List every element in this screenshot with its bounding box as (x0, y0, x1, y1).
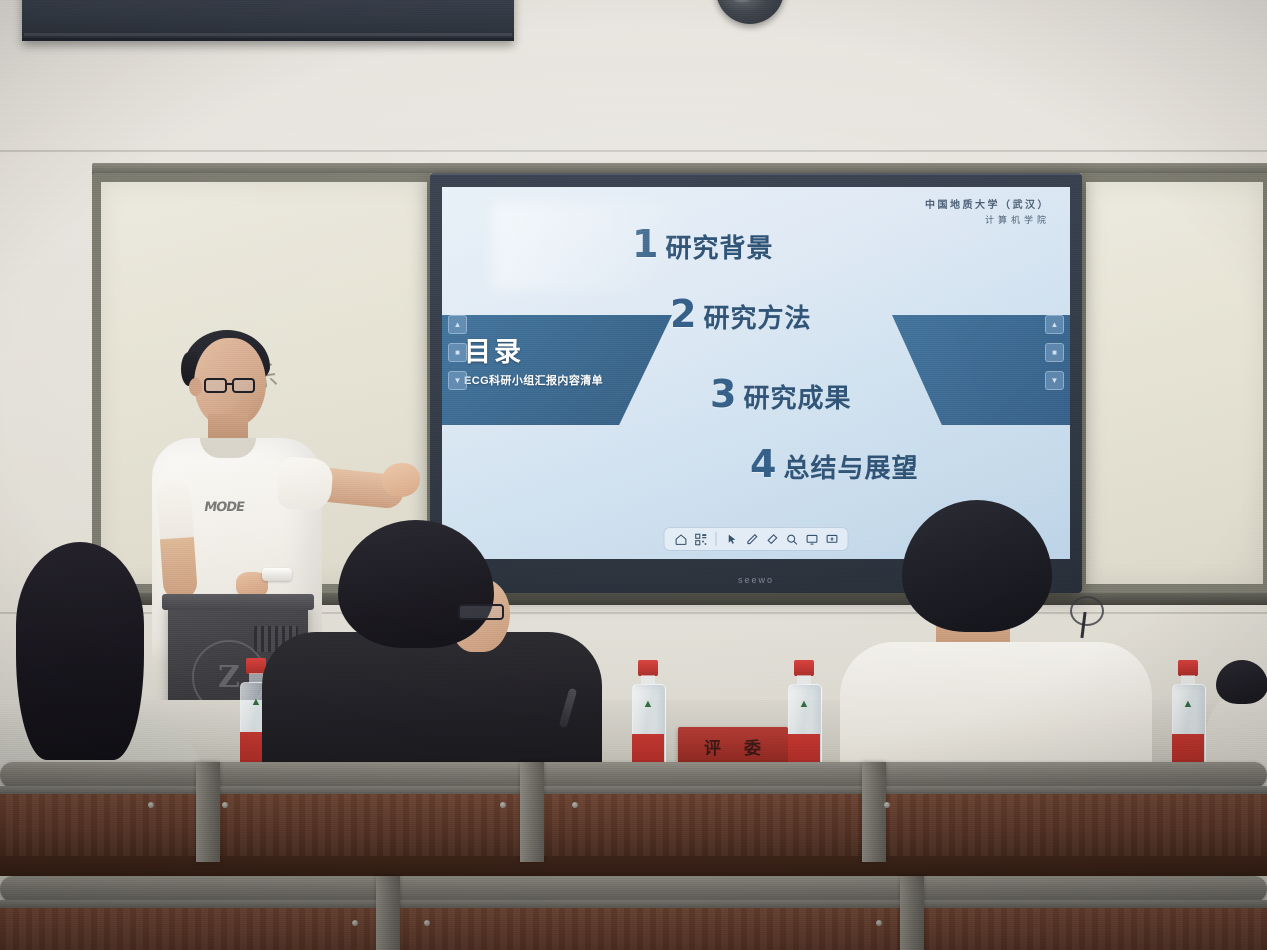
agenda-label-4: 总结与展望 (783, 448, 918, 485)
audience-left-woman (0, 542, 200, 778)
bench-lip (0, 900, 1267, 908)
side-key-up-right-icon[interactable]: ▲ (1045, 315, 1064, 334)
dome-lens (732, 0, 752, 2)
judges-name-plate: 评 委 (678, 727, 788, 765)
agenda-number-1: 1 (632, 225, 658, 263)
bench-rail (0, 876, 1267, 902)
audience-hair (16, 542, 144, 760)
bench-screw (222, 802, 228, 808)
agenda-item-2[interactable]: 2 研究方法 (670, 295, 811, 335)
bench-backrest-wood (0, 794, 1267, 856)
bottle-logo-icon: ▲ (250, 696, 262, 709)
agenda-label-3: 研究成果 (743, 378, 851, 415)
qrcode-icon[interactable] (692, 531, 710, 547)
glasses-lens-left (204, 378, 227, 393)
toolbar-separator (716, 532, 717, 546)
bottle-cap (794, 660, 814, 676)
side-key-menu-left-icon[interactable]: ■ (448, 343, 467, 362)
whiteboard-floating-toolbar[interactable] (664, 527, 849, 551)
audience-center-man (262, 520, 602, 780)
presenter-right-hand (382, 463, 420, 497)
agenda-number-3: 3 (710, 375, 736, 413)
bench-rail (0, 762, 1267, 788)
audience-hair (338, 520, 494, 648)
agenda-item-4[interactable]: 4 总结与展望 (750, 445, 918, 485)
toolbar-group-nav (669, 531, 713, 547)
bench-shelf (0, 856, 1267, 876)
bench-divider-post (520, 762, 544, 862)
bench-divider-post (900, 876, 924, 950)
glasses-lens-right (232, 378, 255, 393)
bench-screw (500, 802, 506, 808)
toc-heading-block: 目录 ECG科研小组汇报内容清单 (464, 330, 603, 388)
side-key-up-left-icon[interactable]: ▲ (448, 315, 467, 334)
panel-side-keys-right[interactable]: ▲ ■ ▼ (1045, 315, 1064, 390)
bench-screw (148, 802, 154, 808)
bench-row-second (0, 876, 1267, 950)
name-plate-char-2: 委 (744, 734, 762, 759)
bench-screw (352, 920, 358, 926)
toc-title: 目录 (464, 330, 603, 369)
agenda-number-2: 2 (670, 295, 696, 333)
side-key-down-left-icon[interactable]: ▼ (448, 371, 467, 390)
audience-hair (902, 500, 1052, 632)
bottle-logo-icon: ▲ (798, 698, 810, 711)
name-plate-char-1: 评 (704, 734, 722, 759)
audience-hair (1216, 660, 1267, 704)
agenda-label-2: 研究方法 (703, 298, 811, 335)
bench-screw (876, 920, 882, 926)
toc-subtitle: ECG科研小组汇报内容清单 (464, 372, 603, 388)
lecture-hall-photo: 乐 中国地质大学（武汉） 计算机学院 目录 ECG科研小组汇报内容清单 (0, 0, 1267, 950)
agenda-number-4: 4 (750, 445, 776, 483)
bench-lip (0, 786, 1267, 794)
bottle-logo-icon: ▲ (1182, 698, 1194, 711)
bench-backrest-wood (0, 908, 1267, 950)
bench-screw (884, 802, 890, 808)
bottle-cap (1178, 660, 1198, 676)
bench-screw (572, 802, 578, 808)
bench-row-front (0, 762, 1267, 872)
water-bottle[interactable]: ▲ (786, 660, 822, 768)
bezel-highlight (430, 173, 1082, 175)
ceiling-duct-panel (22, 0, 514, 41)
cursor-icon[interactable] (723, 531, 741, 547)
water-bottle[interactable]: ▲ (630, 660, 666, 768)
home-icon[interactable] (672, 531, 690, 547)
toolbar-group-tools (720, 531, 844, 547)
presenter-ear (189, 378, 202, 396)
agenda-label-1: 研究背景 (665, 228, 773, 265)
bench-divider-post (376, 876, 400, 950)
side-key-menu-right-icon[interactable]: ■ (1045, 343, 1064, 362)
glasses-icon (458, 604, 504, 620)
agenda-item-1[interactable]: 1 研究背景 (632, 225, 773, 265)
shirt-logo: MODE (203, 500, 268, 516)
audience-right-man (840, 500, 1152, 780)
water-bottle[interactable]: ▲ (1170, 660, 1206, 768)
bottle-cap (638, 660, 658, 676)
eraser-icon[interactable] (763, 531, 781, 547)
annotate-icon[interactable] (823, 531, 841, 547)
bench-screw (424, 920, 430, 926)
presenter-right-sleeve (276, 456, 333, 512)
side-key-down-right-icon[interactable]: ▼ (1045, 371, 1064, 390)
glasses-icon (204, 378, 256, 393)
panel-side-keys-left[interactable]: ▲ ■ ▼ (448, 315, 467, 390)
agenda-item-3[interactable]: 3 研究成果 (710, 375, 851, 415)
screen-icon[interactable] (803, 531, 821, 547)
search-icon[interactable] (783, 531, 801, 547)
bench-divider-post (862, 762, 886, 862)
bench-divider-post (196, 762, 220, 862)
bottle-logo-icon: ▲ (642, 698, 654, 711)
pen-icon[interactable] (743, 531, 761, 547)
